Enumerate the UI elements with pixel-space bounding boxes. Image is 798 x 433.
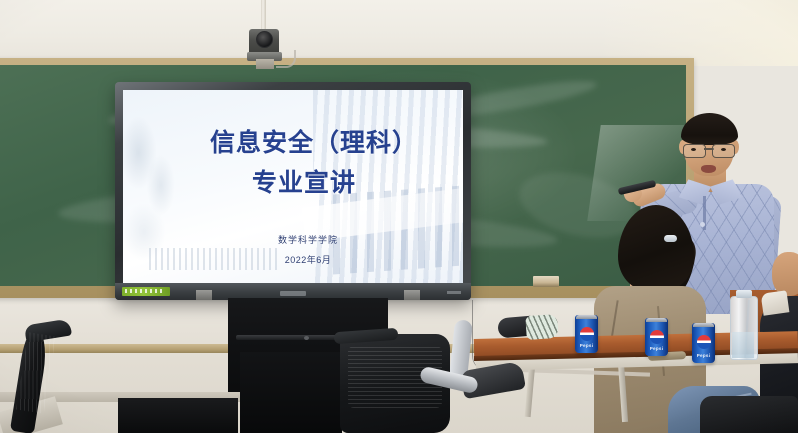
soda-can: Pepsi [575, 315, 598, 353]
display-ir-receiver-icon [447, 291, 461, 294]
student-hair-tie [664, 235, 677, 242]
soda-can: Pepsi [645, 318, 668, 356]
presenter-eye-right [721, 148, 726, 151]
bottle-cap [736, 290, 752, 298]
pepsi-logo-icon [580, 327, 594, 341]
display-screen[interactable]: 信息安全（理科） 专业宣讲 数学科学学院 2022年6月 [123, 90, 463, 284]
attendee-collar [761, 290, 790, 315]
slide-subtitle-department: 数学科学学院 [278, 233, 338, 246]
display-brand-sticker [122, 287, 170, 296]
attendee-head [772, 252, 798, 296]
folded-umbrella [498, 315, 558, 339]
bottle-water [732, 332, 754, 358]
glasses-lens-right [712, 144, 735, 158]
can-brand-label: Pepsi [580, 343, 594, 348]
smart-display[interactable]: 信息安全（理科） 专业宣讲 数学科学学院 2022年6月 [115, 82, 471, 300]
chair-shadow-left [118, 398, 238, 433]
glasses-lens-left [683, 144, 706, 158]
display-stand-leg-right [404, 290, 420, 300]
pepsi-logo-icon [650, 330, 664, 344]
soda-can: Pepsi [692, 323, 715, 363]
display-stand-indicator [304, 336, 309, 340]
slide-content: 信息安全（理科） 专业宣讲 数学科学学院 2022年6月 [123, 90, 463, 284]
camera-mount [256, 59, 274, 69]
classroom-photo: 信息安全（理科） 专业宣讲 数学科学学院 2022年6月 [0, 0, 798, 433]
can-brand-label: Pepsi [650, 346, 664, 351]
display-logo [280, 291, 306, 296]
can-brand-label: Pepsi [697, 353, 711, 358]
presenter-eye-left [691, 148, 696, 151]
presenter-mouth [701, 165, 716, 173]
umbrella-canopy [525, 314, 559, 340]
slide-title-line-2: 专业宣讲 [252, 170, 356, 198]
slide-title-line-1: 信息安全（理科） [210, 130, 418, 158]
display-stand-leg-left [196, 290, 212, 300]
water-bottle [730, 296, 758, 360]
pepsi-logo-icon [697, 335, 711, 349]
chair-far-right [700, 396, 798, 433]
chalkboard-eraser [533, 276, 559, 287]
upper-wall [0, 0, 798, 66]
chair-back-dark [240, 352, 342, 433]
presenter-shirt-button [700, 222, 705, 227]
slide-subtitle-date: 2022年6月 [285, 253, 332, 266]
camera-lens-icon [256, 31, 273, 48]
